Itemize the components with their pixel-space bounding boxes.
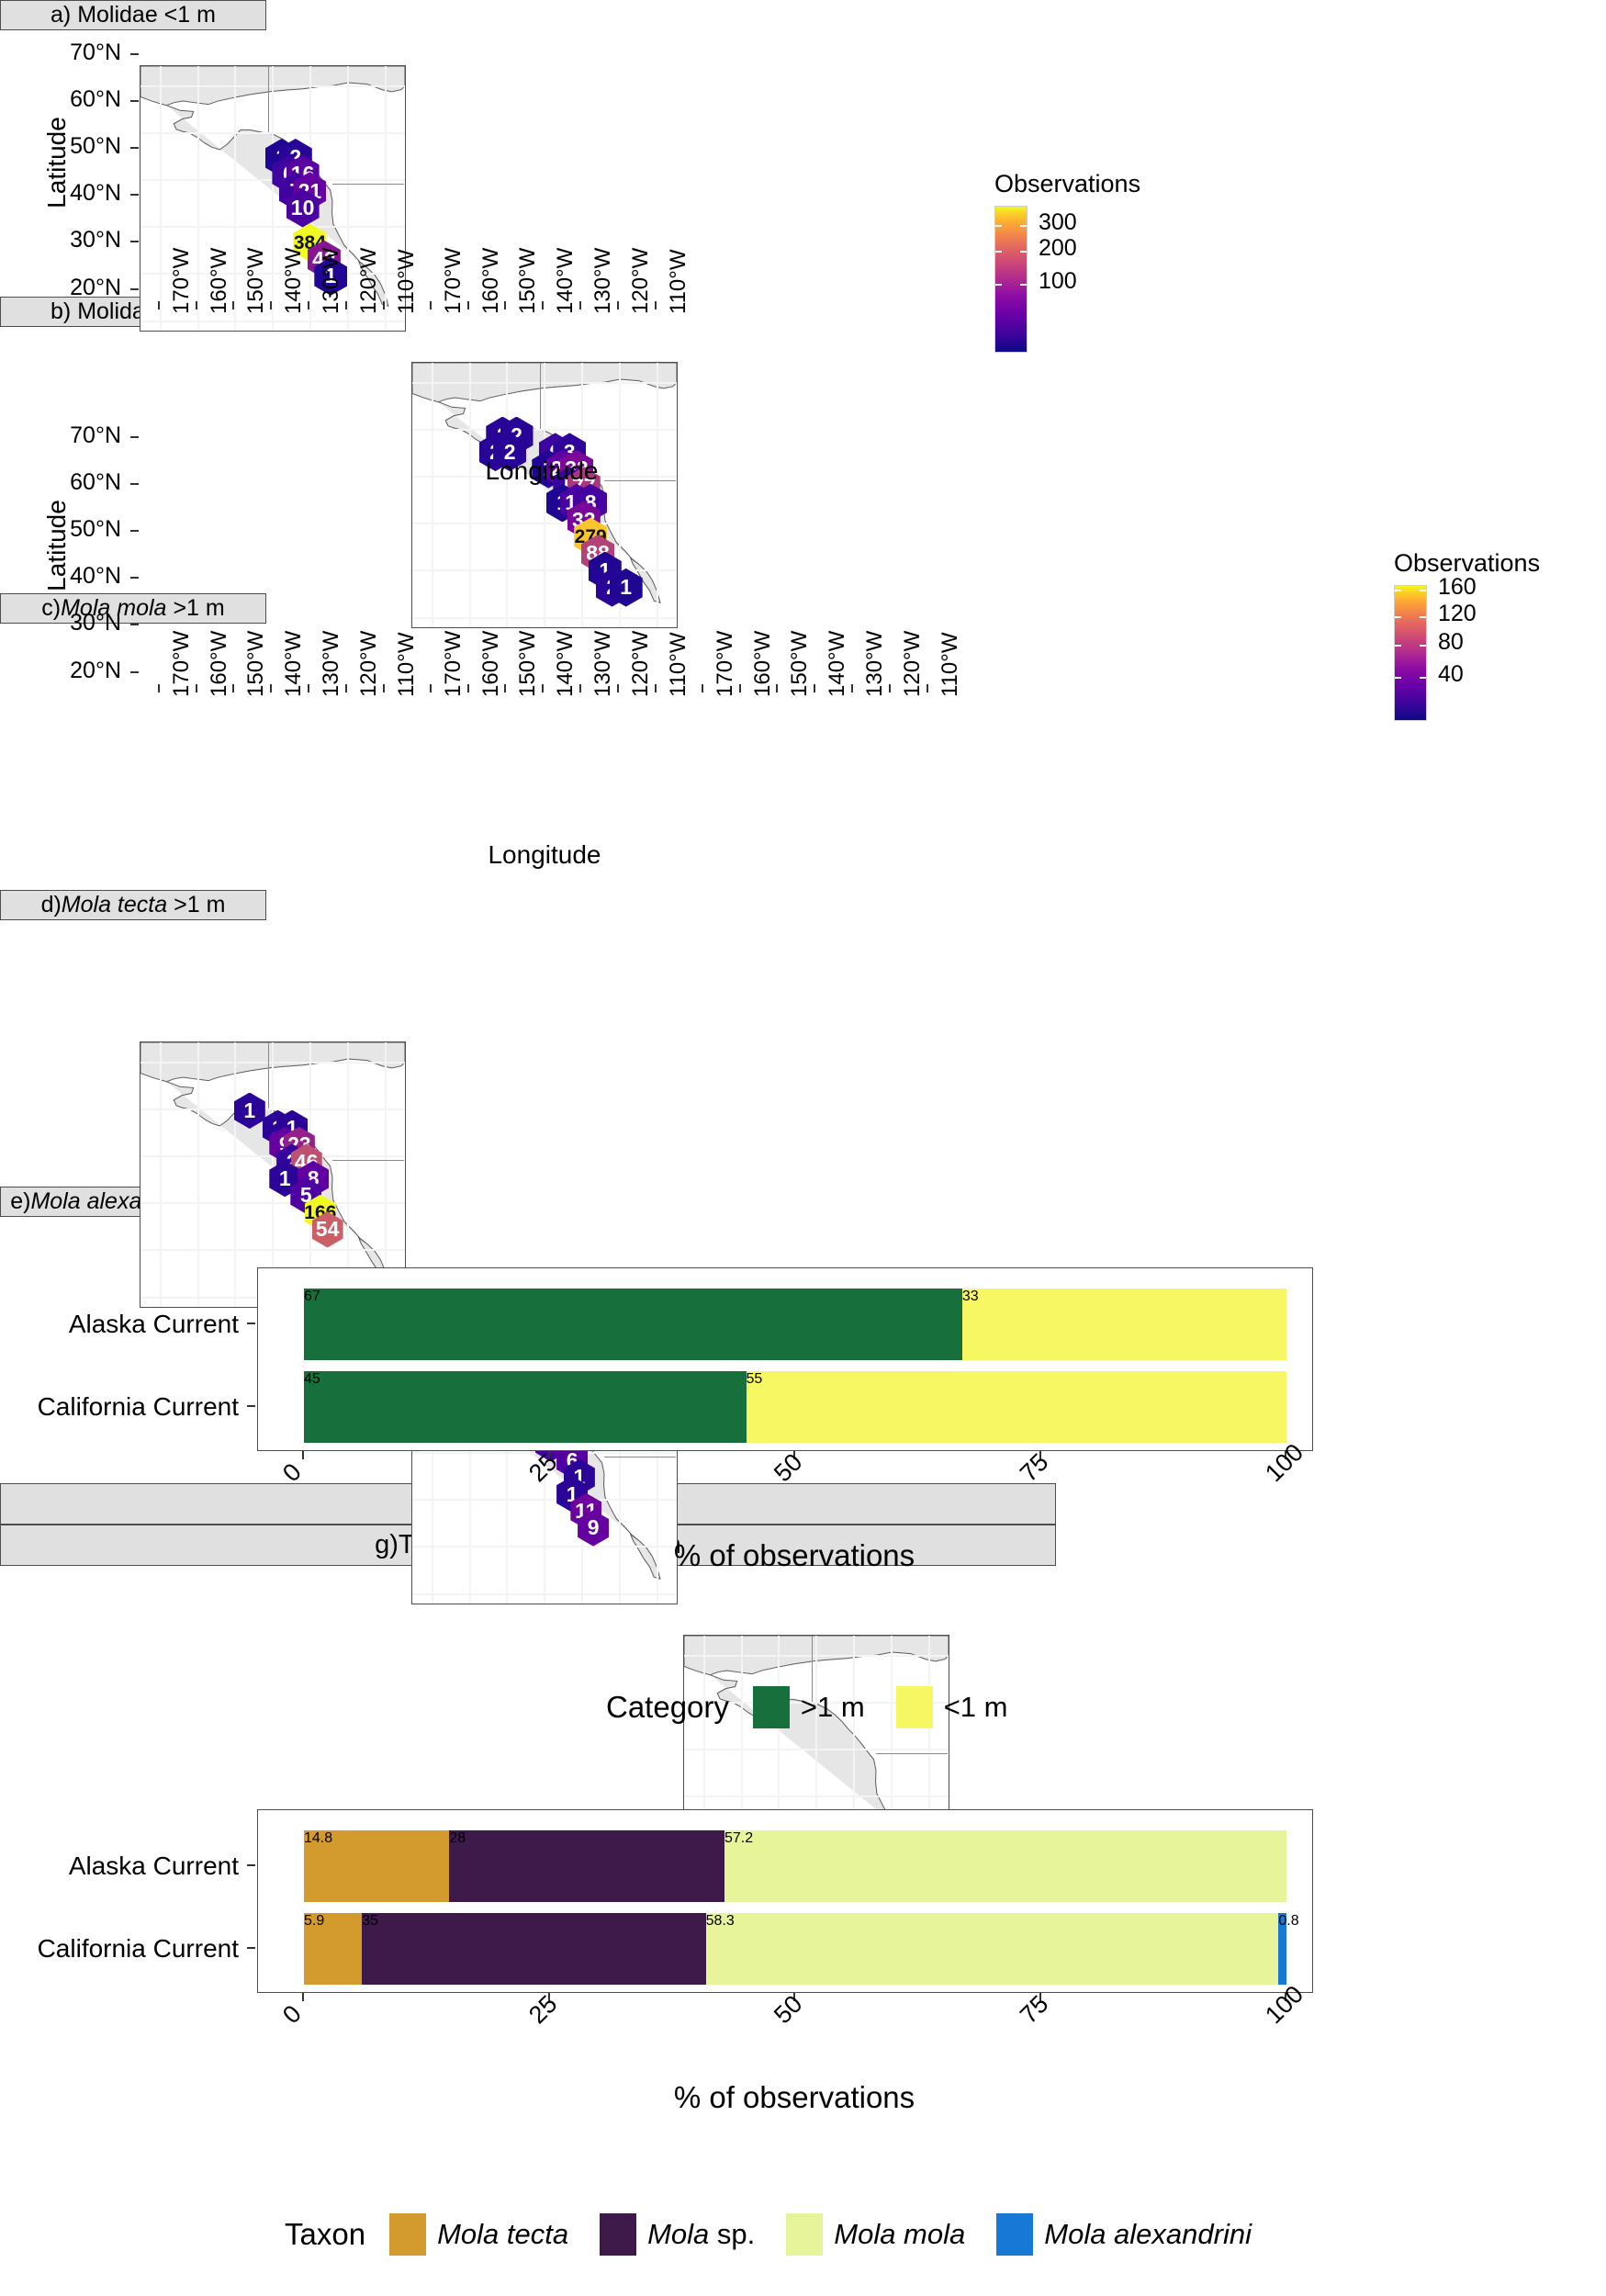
- border-line: [540, 363, 541, 429]
- x-tick-label: 110°W: [938, 632, 963, 697]
- legend-item: Mola sp.: [600, 2213, 755, 2256]
- gridline-horizontal: [140, 321, 405, 322]
- y-tick-label: 20°N: [25, 658, 121, 684]
- legend-label-species: Mola mola: [834, 2218, 965, 2250]
- y-tick-mark: [130, 577, 139, 579]
- x-tick-mark: [196, 684, 197, 692]
- y-tick-mark: [130, 436, 139, 438]
- x-tick-mark: [927, 684, 928, 692]
- x-tick-label: 160°W: [478, 248, 504, 314]
- y-tick-label: 40°N: [25, 180, 121, 207]
- colorbar-tick: [1020, 284, 1027, 286]
- bar-category-label: Alaska Current: [0, 1851, 239, 1881]
- gridline-horizontal: [412, 617, 677, 619]
- y-tick-mark: [130, 241, 139, 242]
- colorbar-tick-label: 200: [1039, 235, 1077, 262]
- x-tick-mark: [383, 684, 385, 692]
- axis-title-pct: % of observations: [611, 2080, 978, 2115]
- legend-body: 1601208040: [1394, 585, 1540, 721]
- x-tick-label: 120°W: [356, 631, 382, 697]
- bar-segment: 55: [747, 1371, 1287, 1443]
- panel-title-species: Mola tecta: [62, 892, 167, 918]
- y-tick-label: 50°N: [25, 516, 121, 543]
- x-tick-mark: [308, 301, 309, 310]
- y-tick-mark: [130, 530, 139, 532]
- legend-swatch: [896, 1686, 933, 1728]
- x-tick-mark: [158, 684, 160, 692]
- x-tick-mark: [345, 301, 347, 310]
- colorbar-labels: 300200100: [1039, 206, 1121, 353]
- gridline-horizontal: [140, 1249, 405, 1251]
- x-tick-label: 110°W: [394, 249, 420, 314]
- border-line: [268, 1042, 269, 1109]
- x-tick-mark: [579, 684, 581, 692]
- legend-item: <1 m: [896, 1686, 1008, 1728]
- x-tick-mark: [504, 301, 506, 310]
- gridline-vertical: [657, 363, 658, 627]
- panel-title-suffix: >1 m: [173, 595, 224, 622]
- legend-body: 300200100: [994, 206, 1140, 353]
- axis-title-latitude: Latitude: [42, 25, 72, 300]
- gridline-horizontal: [140, 85, 405, 87]
- colorbar-tick: [995, 251, 1002, 253]
- x-tick-label: 160°W: [207, 631, 232, 697]
- x-tick-label: 110°W: [666, 249, 691, 314]
- legend-item: Mola tecta: [389, 2213, 568, 2256]
- x-tick-label: 130°W: [319, 631, 344, 697]
- legend-label-species: Mola: [647, 2218, 709, 2250]
- x-tick-label: 160°W: [750, 631, 776, 697]
- x-tick-mark: [542, 684, 544, 692]
- gridline-vertical: [272, 66, 274, 331]
- gridline-horizontal: [412, 523, 677, 524]
- legend-swatch: [996, 2213, 1033, 2256]
- colorbar-tick: [1420, 590, 1426, 591]
- border-line: [332, 184, 404, 185]
- border-line: [332, 1160, 404, 1161]
- axis-title-pct: % of observations: [611, 1538, 978, 1573]
- y-tick-mark: [130, 53, 139, 55]
- bar-row: 5.93558.30.8: [258, 1913, 1314, 1985]
- x-tick-mark: [196, 301, 197, 310]
- x-tick-label: 140°W: [281, 248, 307, 314]
- x-tick-label: 140°W: [553, 631, 578, 697]
- legend-taxon-title: Taxon: [285, 2217, 365, 2252]
- gridline-vertical: [197, 66, 199, 331]
- legend-swatch: [600, 2213, 636, 2256]
- gridline-horizontal: [412, 429, 677, 431]
- x-tick-label: 130°W: [319, 248, 344, 314]
- y-tick-label: 60°N: [25, 469, 121, 496]
- border-line: [268, 66, 269, 132]
- x-tick-label: 120°W: [628, 631, 654, 697]
- axis-title-longitude: Longitude: [404, 456, 679, 486]
- x-tick-label: 25: [523, 1990, 563, 2030]
- gridline-vertical: [160, 1042, 162, 1307]
- bar-segment: 0.8: [1278, 1913, 1286, 1985]
- legend-label-plain: sp.: [709, 2218, 755, 2250]
- x-tick-label: 50: [769, 1448, 808, 1488]
- bar-panel-panel-f: 67334555: [257, 1267, 1313, 1451]
- x-tick-label: 170°W: [441, 631, 466, 697]
- x-tick-label: 160°W: [478, 631, 504, 697]
- x-tick-mark: [889, 684, 891, 692]
- legend-swatch: [753, 1686, 790, 1728]
- x-tick-label: 170°W: [169, 248, 195, 314]
- y-tick-label: 30°N: [25, 227, 121, 253]
- figure-root: a) Molidae <1 m126167211038442170°N60°N5…: [0, 0, 1606, 2296]
- bar-row: 14.82857.2: [258, 1830, 1314, 1902]
- y-tick-label: 60°N: [25, 86, 121, 113]
- x-tick-mark: [655, 684, 657, 692]
- border-line: [604, 1457, 676, 1458]
- colorbar-tick-label: 120: [1438, 601, 1477, 627]
- bar-category-label: Alaska Current: [0, 1310, 239, 1339]
- x-tick-label: 150°W: [515, 631, 541, 697]
- gridline-vertical: [234, 1042, 236, 1307]
- x-tick-mark: [270, 684, 272, 692]
- bar-category-label: California Current: [0, 1392, 239, 1422]
- gridline-vertical: [469, 363, 471, 627]
- bar-segment: 28: [449, 1830, 724, 1902]
- gridline-horizontal: [412, 382, 677, 384]
- legend-swatch: [786, 2213, 823, 2256]
- x-tick-mark: [308, 684, 309, 692]
- panel-title-prefix: d): [41, 892, 62, 918]
- gridline-vertical: [197, 1042, 199, 1307]
- bar-row: 6733: [258, 1289, 1314, 1360]
- x-tick-label: 170°W: [169, 631, 195, 697]
- legend-label-species: Mola tecta: [437, 2218, 568, 2250]
- colorbar-tick-label: 160: [1438, 574, 1477, 601]
- legend-taxon: TaxonMola tectaMola sp.Mola molaMola ale…: [285, 2213, 1283, 2256]
- colorbar-tick: [1020, 225, 1027, 227]
- y-tick-label: 70°N: [25, 422, 121, 449]
- x-tick-label: 140°W: [553, 248, 578, 314]
- gridline-horizontal: [412, 1593, 677, 1595]
- colorbar-tick: [995, 225, 1002, 227]
- legend-label: Mola sp.: [647, 2218, 755, 2251]
- colorbar-tick: [1420, 645, 1426, 647]
- panel-title-suffix: >1 m: [174, 892, 225, 918]
- bar-segment: 57.2: [724, 1830, 1286, 1902]
- colorbar-tick: [1395, 616, 1401, 618]
- bar-segment: 58.3: [706, 1913, 1279, 1985]
- x-tick-label: 140°W: [281, 631, 307, 697]
- y-tick-mark: [130, 624, 139, 625]
- legend-label: >1 m: [801, 1691, 865, 1724]
- legend-label: Mola mola: [834, 2218, 965, 2251]
- gridline-horizontal: [412, 1499, 677, 1501]
- x-tick-mark: [302, 1993, 304, 2001]
- y-tick-mark: [247, 1947, 255, 1949]
- legend-title: Observations: [994, 170, 1140, 198]
- bar-segment: 45: [304, 1371, 747, 1443]
- bar-segment: 14.8: [304, 1830, 449, 1902]
- colorbar-tick: [1395, 590, 1401, 591]
- bar-category-label: California Current: [0, 1934, 239, 1964]
- gridline-horizontal: [140, 132, 405, 134]
- x-tick-label: 75: [1015, 1990, 1054, 2030]
- panel-title-panel-d: d) Mola tecta>1 m: [0, 890, 266, 920]
- x-tick-label: 120°W: [900, 631, 926, 697]
- x-tick-label: 50: [769, 1990, 808, 2030]
- x-tick-mark: [504, 684, 506, 692]
- colorbar-tick-label: 100: [1039, 268, 1077, 295]
- y-tick-mark: [130, 288, 139, 290]
- colorbar-tick-label: 80: [1438, 629, 1464, 656]
- x-tick-mark: [814, 684, 815, 692]
- bar-panel-panel-g: 14.82857.25.93558.30.8: [257, 1809, 1313, 1993]
- panel-title-text: a) Molidae <1 m: [51, 2, 216, 28]
- y-tick-mark: [130, 194, 139, 196]
- x-tick-mark: [739, 684, 741, 692]
- x-tick-mark: [430, 301, 432, 310]
- axis-title-longitude: Longitude: [407, 840, 682, 870]
- x-tick-label: 160°W: [207, 248, 232, 314]
- y-tick-mark: [130, 671, 139, 673]
- y-tick-label: 30°N: [25, 610, 121, 636]
- bar-segment: 33: [962, 1289, 1286, 1360]
- map-panel-panel-b: 2222631203357711083227988121: [411, 362, 678, 628]
- x-tick-label: 150°W: [243, 631, 269, 697]
- colorbar-tick: [1020, 251, 1027, 253]
- y-tick-label: 70°N: [25, 39, 121, 66]
- x-tick-mark: [542, 301, 544, 310]
- gridline-vertical: [544, 363, 545, 627]
- x-tick-mark: [430, 684, 432, 692]
- x-tick-label: 110°W: [394, 632, 420, 697]
- gridline-vertical: [506, 363, 508, 627]
- x-tick-mark: [345, 684, 347, 692]
- colorbar-gradient: [994, 206, 1028, 353]
- colorbar-tick-label: 40: [1438, 661, 1464, 688]
- gridline-horizontal: [140, 1062, 405, 1064]
- colorbar-tick: [995, 284, 1002, 286]
- y-tick-mark: [247, 1864, 255, 1866]
- gridline-vertical: [160, 66, 162, 331]
- gridline-horizontal: [140, 1202, 405, 1204]
- x-tick-mark: [232, 684, 234, 692]
- gridline-vertical: [385, 66, 387, 331]
- x-tick-mark: [383, 301, 385, 310]
- x-tick-mark: [270, 301, 272, 310]
- x-tick-label: 140°W: [825, 631, 850, 697]
- x-tick-mark: [467, 301, 469, 310]
- legend-category-title: Category: [606, 1690, 729, 1725]
- colorbar-tick: [1420, 616, 1426, 618]
- x-tick-label: 150°W: [243, 248, 269, 314]
- y-tick-mark: [247, 1322, 255, 1324]
- legend-label: Mola tecta: [437, 2218, 568, 2251]
- legend-swatch: [389, 2213, 426, 2256]
- legend-observations-bottom: Observations1601208040: [1394, 549, 1540, 721]
- legend-item: >1 m: [753, 1686, 865, 1728]
- x-tick-label: 120°W: [628, 248, 654, 314]
- x-tick-mark: [617, 684, 619, 692]
- x-tick-label: 120°W: [356, 248, 382, 314]
- panel-title-prefix: e): [10, 1188, 30, 1215]
- bar-row: 4555: [258, 1371, 1314, 1443]
- colorbar-gradient: [1394, 585, 1427, 721]
- x-tick-mark: [655, 301, 657, 310]
- x-tick-mark: [158, 301, 160, 310]
- legend-label: Mola alexandrini: [1044, 2218, 1252, 2251]
- colorbar-labels: 1601208040: [1438, 585, 1521, 721]
- x-tick-label: 75: [1015, 1448, 1054, 1488]
- gridline-horizontal: [684, 1795, 949, 1797]
- colorbar-tick: [1395, 677, 1401, 679]
- panel-title-panel-a: a) Molidae <1 m: [0, 0, 266, 30]
- y-tick-label: 50°N: [25, 133, 121, 160]
- x-tick-mark: [776, 684, 778, 692]
- gridline-horizontal: [684, 1749, 949, 1750]
- axis-title-latitude: Latitude: [42, 408, 72, 683]
- y-tick-label: 20°N: [25, 275, 121, 301]
- x-tick-label: 110°W: [666, 632, 691, 697]
- gridline-vertical: [347, 66, 349, 331]
- x-tick-mark: [617, 301, 619, 310]
- legend-label-species: Mola alexandrini: [1044, 2218, 1252, 2250]
- colorbar-tick: [1395, 645, 1401, 647]
- x-tick-label: 130°W: [590, 248, 616, 314]
- x-tick-mark: [467, 684, 469, 692]
- colorbar-tick: [1420, 677, 1426, 679]
- x-tick-label: 0: [277, 1999, 308, 2030]
- gridline-horizontal: [140, 1109, 405, 1110]
- x-tick-label: 170°W: [441, 248, 466, 314]
- legend-item: Mola alexandrini: [996, 2213, 1252, 2256]
- y-tick-label: 40°N: [25, 563, 121, 590]
- x-tick-label: 170°W: [713, 631, 738, 697]
- gridline-vertical: [432, 363, 433, 627]
- legend-observations-top: Observations300200100: [994, 170, 1140, 353]
- x-tick-label: 150°W: [787, 631, 813, 697]
- legend-item: Mola mola: [786, 2213, 965, 2256]
- x-tick-label: 130°W: [862, 631, 888, 697]
- y-tick-mark: [130, 483, 139, 485]
- x-tick-mark: [579, 301, 581, 310]
- gridline-horizontal: [412, 569, 677, 571]
- gridline-horizontal: [140, 226, 405, 228]
- legend-label: <1 m: [944, 1691, 1008, 1724]
- colorbar-tick-label: 300: [1039, 209, 1077, 236]
- x-tick-mark: [302, 1451, 304, 1459]
- y-tick-mark: [130, 147, 139, 149]
- bar-segment: 67: [304, 1289, 962, 1360]
- y-tick-mark: [130, 100, 139, 102]
- bar-segment: 35: [362, 1913, 706, 1985]
- x-tick-mark: [702, 684, 703, 692]
- x-tick-mark: [851, 684, 853, 692]
- x-tick-label: 150°W: [515, 248, 541, 314]
- y-tick-mark: [247, 1405, 255, 1407]
- gridline-horizontal: [684, 1655, 949, 1657]
- border-line: [876, 1753, 948, 1754]
- x-tick-mark: [232, 301, 234, 310]
- x-tick-label: 130°W: [590, 631, 616, 697]
- legend-category: Category>1 m<1 m: [606, 1686, 1039, 1728]
- gridline-vertical: [234, 66, 236, 331]
- bar-segment: 5.9: [304, 1913, 362, 1985]
